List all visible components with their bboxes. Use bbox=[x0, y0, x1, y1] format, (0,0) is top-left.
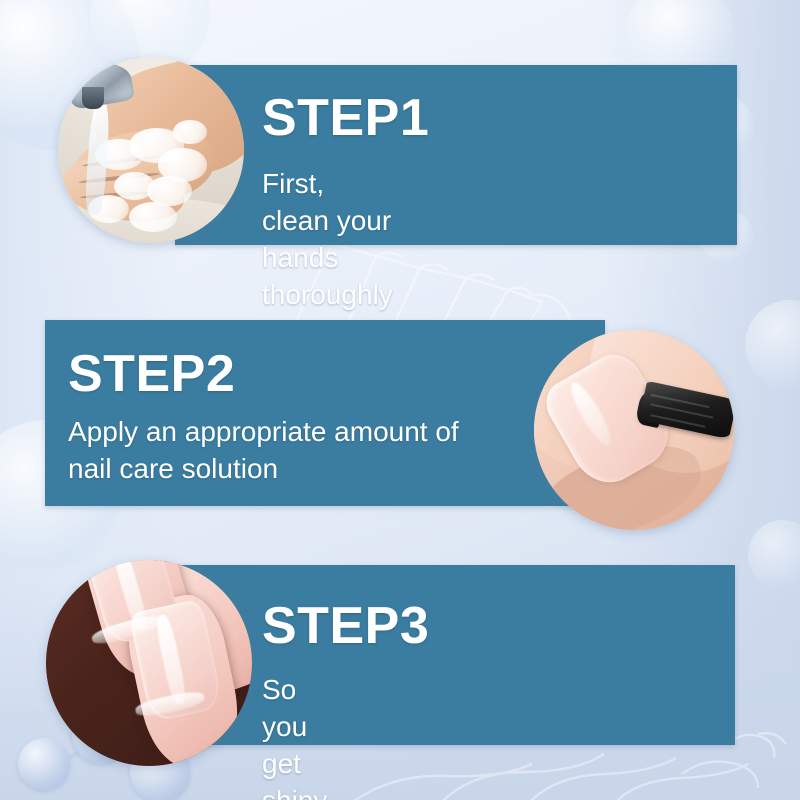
step3-image bbox=[46, 560, 252, 766]
step1-description: First, clean your hands thoroughly bbox=[262, 166, 393, 314]
step2-image bbox=[534, 330, 734, 530]
step3-description: So you get shiny nails bbox=[262, 672, 327, 800]
step3-title: STEP3 bbox=[262, 600, 429, 652]
step2-description: Apply an appropriate amount of nail care… bbox=[68, 414, 498, 488]
step3-banner bbox=[175, 565, 735, 745]
step1-banner bbox=[175, 65, 737, 245]
step2-title: STEP2 bbox=[68, 348, 235, 400]
step1-title: STEP1 bbox=[262, 92, 429, 144]
step1-image bbox=[58, 57, 244, 243]
infographic-stage: STEP1 First, clean your hands thoroughly… bbox=[0, 0, 800, 800]
